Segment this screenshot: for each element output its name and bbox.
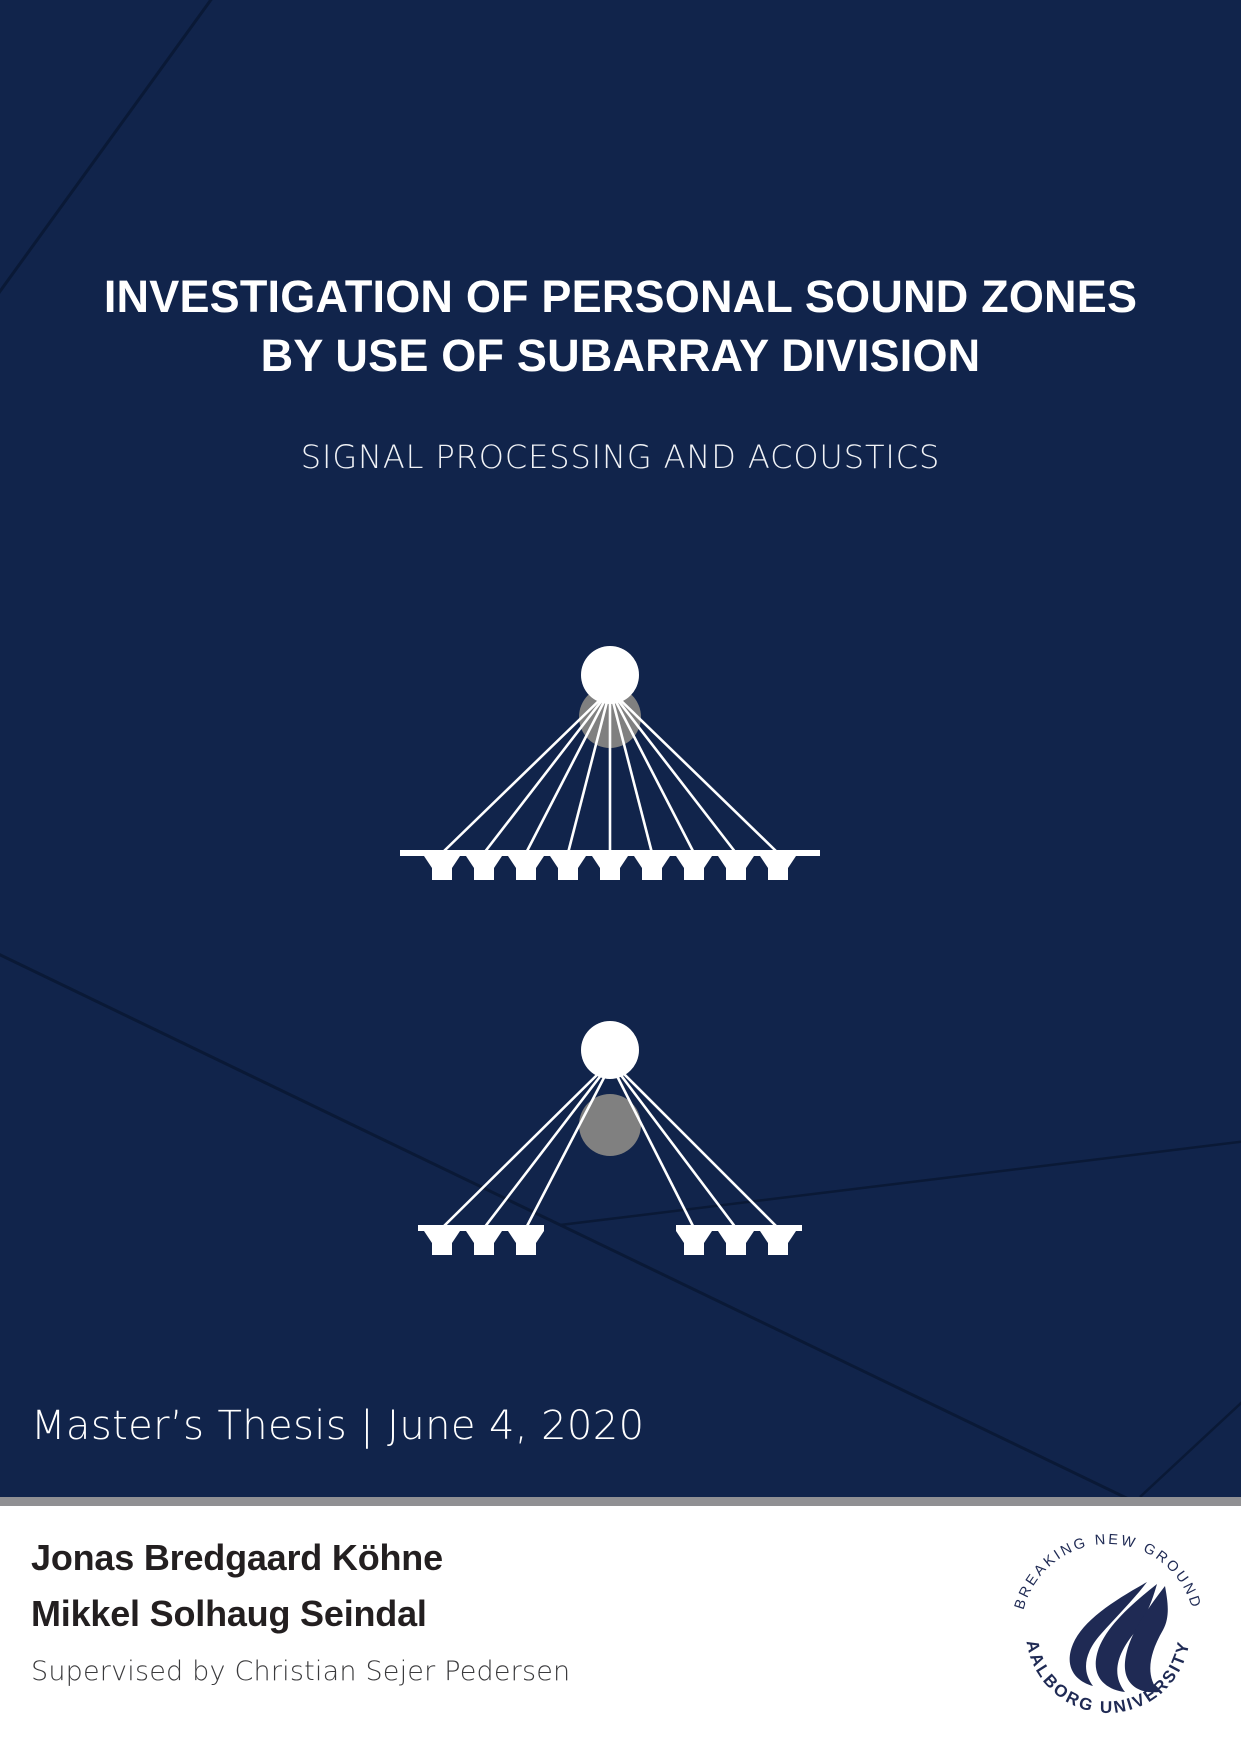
loudspeaker-element <box>718 856 754 880</box>
loudspeaker-element <box>466 1231 502 1255</box>
logo-top-arc-text: BREAKING NEW GROUND <box>1012 1532 1204 1612</box>
subarray-bar-right <box>676 1225 802 1231</box>
loudspeaker-elements-right <box>676 1231 796 1255</box>
loudspeaker-element <box>760 856 796 880</box>
loudspeaker-elements-left <box>424 1231 544 1255</box>
title-line-2: BY USE OF SUBARRAY DIVISION <box>261 330 981 381</box>
array-bar <box>400 850 820 856</box>
author-name: Jonas Bredgaard Köhne <box>31 1538 831 1578</box>
loudspeaker-element <box>634 856 670 880</box>
thesis-cover-page: INVESTIGATION OF PERSONAL SOUND ZONES BY… <box>0 0 1241 1754</box>
loudspeaker-element <box>676 1231 712 1255</box>
author-list: Jonas Bredgaard Köhne Mikkel Solhaug Sei… <box>31 1538 831 1635</box>
loudspeaker-element <box>760 1231 796 1255</box>
loudspeaker-element <box>508 856 544 880</box>
figure-subarray-division <box>400 1020 820 1260</box>
hero-navy-panel: INVESTIGATION OF PERSONAL SOUND ZONES BY… <box>0 0 1241 1497</box>
loudspeaker-element <box>718 1231 754 1255</box>
loudspeaker-element <box>592 856 628 880</box>
logo-top-arc-label: BREAKING NEW GROUND <box>1012 1532 1204 1612</box>
author-name: Mikkel Solhaug Seindal <box>31 1594 831 1634</box>
loudspeaker-element <box>508 1231 544 1255</box>
figure-full-array <box>400 645 820 885</box>
title-line-1: INVESTIGATION OF PERSONAL SOUND ZONES <box>104 271 1137 322</box>
loudspeaker-element <box>424 1231 460 1255</box>
title-block: INVESTIGATION OF PERSONAL SOUND ZONES BY… <box>0 268 1241 476</box>
loudspeaker-element <box>550 856 586 880</box>
loudspeaker-element <box>466 856 502 880</box>
loudspeaker-elements <box>424 856 796 880</box>
bright-zone-circle <box>581 646 639 704</box>
page-title: INVESTIGATION OF PERSONAL SOUND ZONES BY… <box>60 268 1181 385</box>
aalborg-university-logo: BREAKING NEW GROUND AALBORG UNIVERSITY <box>997 1520 1219 1742</box>
page-subtitle: SIGNAL PROCESSING AND ACOUSTICS <box>60 438 1181 476</box>
beam-lines <box>442 690 778 853</box>
aau-swoosh-mark <box>1070 1582 1168 1692</box>
subarray-bar-left <box>418 1225 544 1231</box>
footer-panel: Jonas Bredgaard Köhne Mikkel Solhaug Sei… <box>0 1506 1241 1754</box>
supervisor-line: Supervised by Christian Sejer Pedersen <box>31 1656 570 1687</box>
thesis-date-line: Master’s Thesis | June 4, 2020 <box>31 1403 644 1449</box>
section-divider <box>0 1497 1241 1506</box>
loudspeaker-element <box>676 856 712 880</box>
bright-zone-circle <box>581 1021 639 1079</box>
loudspeaker-element <box>424 856 460 880</box>
